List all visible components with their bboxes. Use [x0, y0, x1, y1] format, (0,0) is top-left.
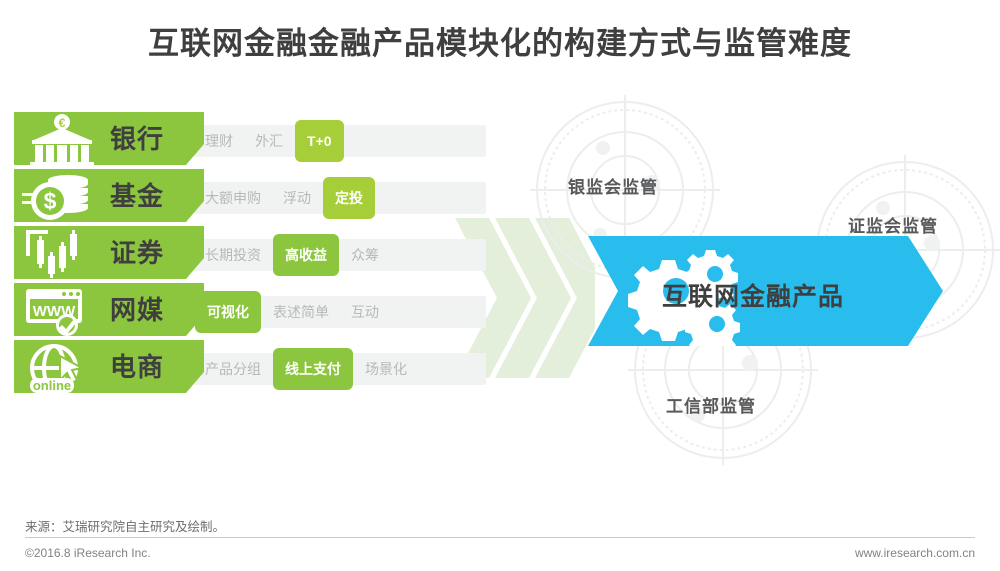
browser-www-check-icon: WWW — [20, 285, 104, 337]
tag-strip: 可视化 表述简单 互动 — [194, 296, 486, 328]
regulator-label-1: 证监会监管 — [848, 212, 938, 237]
tag-0[interactable]: 长期投资 — [194, 239, 272, 271]
sector-row-webmedia[interactable]: 可视化 表述简单 互动 WWW — [14, 283, 484, 340]
tag-strip: 长期投资 高收益 众筹 — [194, 239, 486, 271]
tag-1[interactable]: 浮动 — [272, 182, 322, 214]
sector-row-bank[interactable]: 理财 外汇 T+0 € — [14, 112, 484, 169]
tag-1-highlighted[interactable]: 高收益 — [273, 234, 339, 276]
banner-title: 互联网金融产品 — [662, 277, 844, 313]
tag-strip: 产品分组 线上支付 场景化 — [194, 353, 486, 385]
copyright-text: ©2016.8 iResearch Inc. — [25, 546, 151, 560]
svg-text:$: $ — [44, 188, 57, 214]
candlestick-chart-icon — [20, 228, 104, 280]
svg-text:online: online — [33, 378, 71, 393]
tag-1-highlighted[interactable]: 线上支付 — [273, 348, 353, 390]
infographic-page: 互联网金融金融产品模块化的构建方式与监管难度 — [0, 0, 1000, 571]
tag-2-highlighted[interactable]: T+0 — [295, 120, 344, 162]
tag-2[interactable]: 场景化 — [354, 353, 418, 385]
bank-icon: € — [20, 114, 104, 166]
sector-label-text: 银行 — [110, 119, 164, 156]
sector-label-text: 网媒 — [110, 290, 164, 327]
page-title: 互联网金融金融产品模块化的构建方式与监管难度 — [0, 18, 1000, 63]
tag-strip: 大额申购 浮动 定投 — [194, 182, 486, 214]
sector-row-ecommerce[interactable]: 产品分组 线上支付 场景化 online — [14, 340, 484, 397]
sector-label-text: 证券 — [110, 233, 164, 270]
source-note: 来源：艾瑞研究院自主研究及绘制。 — [25, 516, 225, 535]
tag-1[interactable]: 外汇 — [244, 125, 294, 157]
sector-row-fund[interactable]: 大额申购 浮动 定投 — [14, 169, 484, 226]
sector-rows: 理财 外汇 T+0 € — [14, 112, 484, 397]
sector-row-securities[interactable]: 长期投资 高收益 众筹 — [14, 226, 484, 283]
regulator-label-2: 工信部监管 — [666, 392, 756, 417]
svg-text:€: € — [59, 116, 66, 130]
sector-label-text: 电商 — [110, 347, 164, 384]
coins-dollar-icon: $ — [20, 171, 104, 223]
tag-1[interactable]: 表述简单 — [262, 296, 340, 328]
website-url[interactable]: www.iresearch.com.cn — [855, 546, 975, 560]
tag-0-highlighted[interactable]: 可视化 — [195, 291, 261, 333]
sector-label-text: 基金 — [110, 176, 164, 213]
tag-2[interactable]: 众筹 — [340, 239, 390, 271]
globe-online-icon: online — [20, 342, 104, 394]
tag-2[interactable]: 互动 — [340, 296, 390, 328]
regulator-label-0: 银监会监管 — [568, 173, 658, 198]
tag-2-highlighted[interactable]: 定投 — [323, 177, 375, 219]
footer-divider — [25, 537, 975, 538]
tag-0[interactable]: 产品分组 — [194, 353, 272, 385]
tag-strip: 理财 外汇 T+0 — [194, 125, 486, 157]
tag-0[interactable]: 大额申购 — [194, 182, 272, 214]
